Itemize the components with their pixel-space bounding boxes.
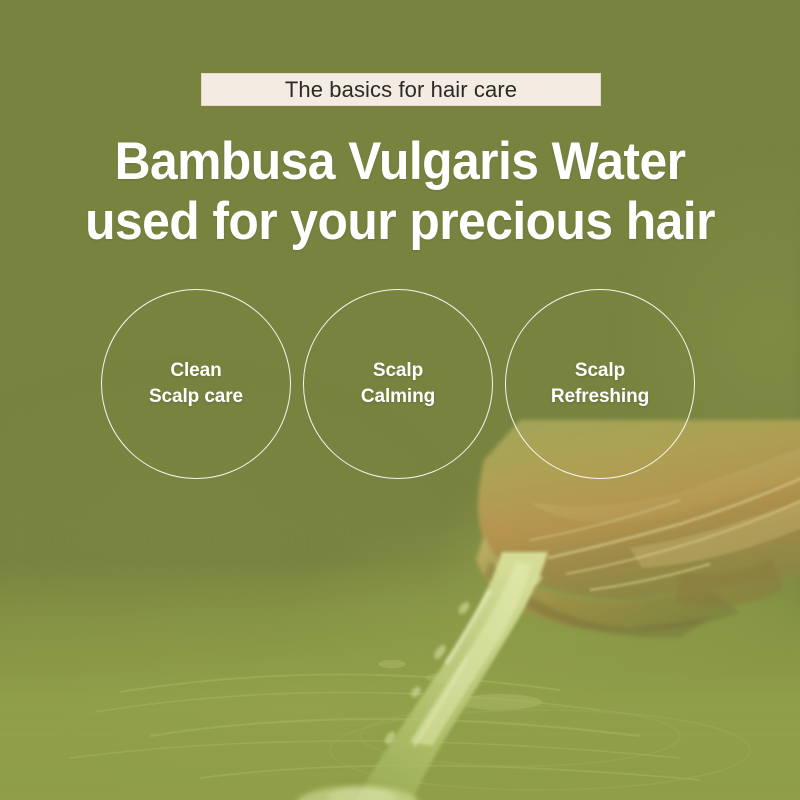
product-poster: The basics for hair care Bambusa Vulgari… bbox=[0, 0, 800, 800]
feature-circle-clean-scalp-care: Clean Scalp care bbox=[101, 289, 291, 479]
feature-label-line-1: Clean bbox=[170, 358, 221, 384]
headline-line-2: used for your precious hair bbox=[24, 192, 776, 252]
feature-circle-scalp-refreshing: Scalp Refreshing bbox=[505, 289, 695, 479]
feature-label-line-1: Scalp bbox=[373, 358, 423, 384]
poster-content: The basics for hair care Bambusa Vulgari… bbox=[0, 0, 800, 800]
feature-label-line-2: Refreshing bbox=[551, 384, 649, 410]
page-title: Bambusa Vulgaris Water used for your pre… bbox=[24, 132, 776, 252]
feature-label-line-2: Calming bbox=[361, 384, 435, 410]
feature-label-line-2: Scalp care bbox=[149, 384, 243, 410]
headline-line-1: Bambusa Vulgaris Water bbox=[24, 132, 776, 192]
feature-circle-group: Clean Scalp care Scalp Calming Scalp Ref… bbox=[101, 289, 695, 479]
eyebrow-banner: The basics for hair care bbox=[201, 73, 601, 106]
eyebrow-text: The basics for hair care bbox=[285, 79, 517, 101]
feature-label-line-1: Scalp bbox=[575, 358, 625, 384]
feature-circle-scalp-calming: Scalp Calming bbox=[303, 289, 493, 479]
